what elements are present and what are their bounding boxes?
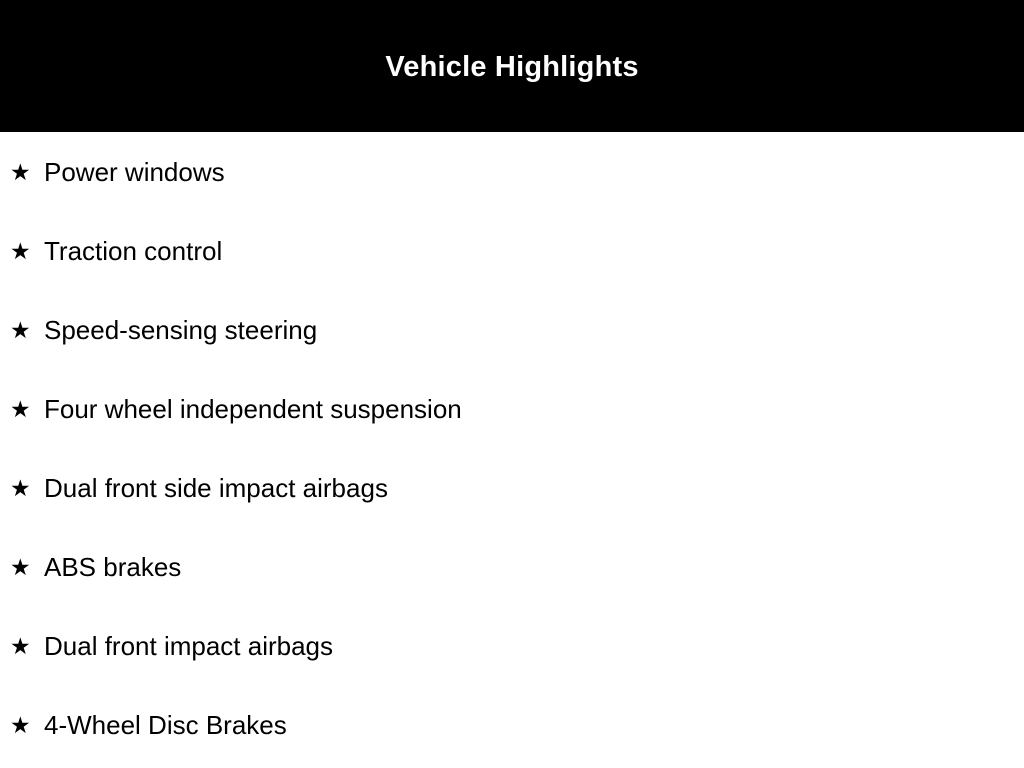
list-item-label: Dual front side impact airbags	[44, 474, 388, 503]
star-icon: ★	[10, 161, 27, 184]
list-item-label: Traction control	[44, 237, 222, 266]
list-item-label: Dual front impact airbags	[44, 632, 333, 661]
list-item: ★ Traction control	[0, 212, 1024, 291]
list-item: ★ 4-Wheel Disc Brakes	[0, 686, 1024, 765]
star-icon: ★	[10, 398, 27, 421]
list-item: ★ ABS brakes	[0, 528, 1024, 607]
list-item-label: Power windows	[44, 158, 225, 187]
list-item-label: 4-Wheel Disc Brakes	[44, 711, 287, 740]
star-icon: ★	[10, 635, 27, 658]
list-item: ★ Speed-sensing steering	[0, 291, 1024, 370]
star-icon: ★	[10, 556, 27, 579]
star-icon: ★	[10, 240, 27, 263]
list-item-label: Four wheel independent suspension	[44, 395, 462, 424]
vehicle-highlights-page: Vehicle Highlights ★ Power windows ★ Tra…	[0, 0, 1024, 768]
list-item-label: ABS brakes	[44, 553, 181, 582]
page-header: Vehicle Highlights	[0, 0, 1024, 132]
list-item-label: Speed-sensing steering	[44, 316, 317, 345]
star-icon: ★	[10, 714, 27, 737]
list-item: ★ Dual front impact airbags	[0, 607, 1024, 686]
star-icon: ★	[10, 319, 27, 342]
vehicle-highlights-list: ★ Power windows ★ Traction control ★ Spe…	[0, 132, 1024, 765]
list-item: ★ Power windows	[0, 132, 1024, 212]
star-icon: ★	[10, 477, 27, 500]
list-item: ★ Dual front side impact airbags	[0, 449, 1024, 528]
page-title: Vehicle Highlights	[385, 51, 638, 82]
list-item: ★ Four wheel independent suspension	[0, 370, 1024, 449]
